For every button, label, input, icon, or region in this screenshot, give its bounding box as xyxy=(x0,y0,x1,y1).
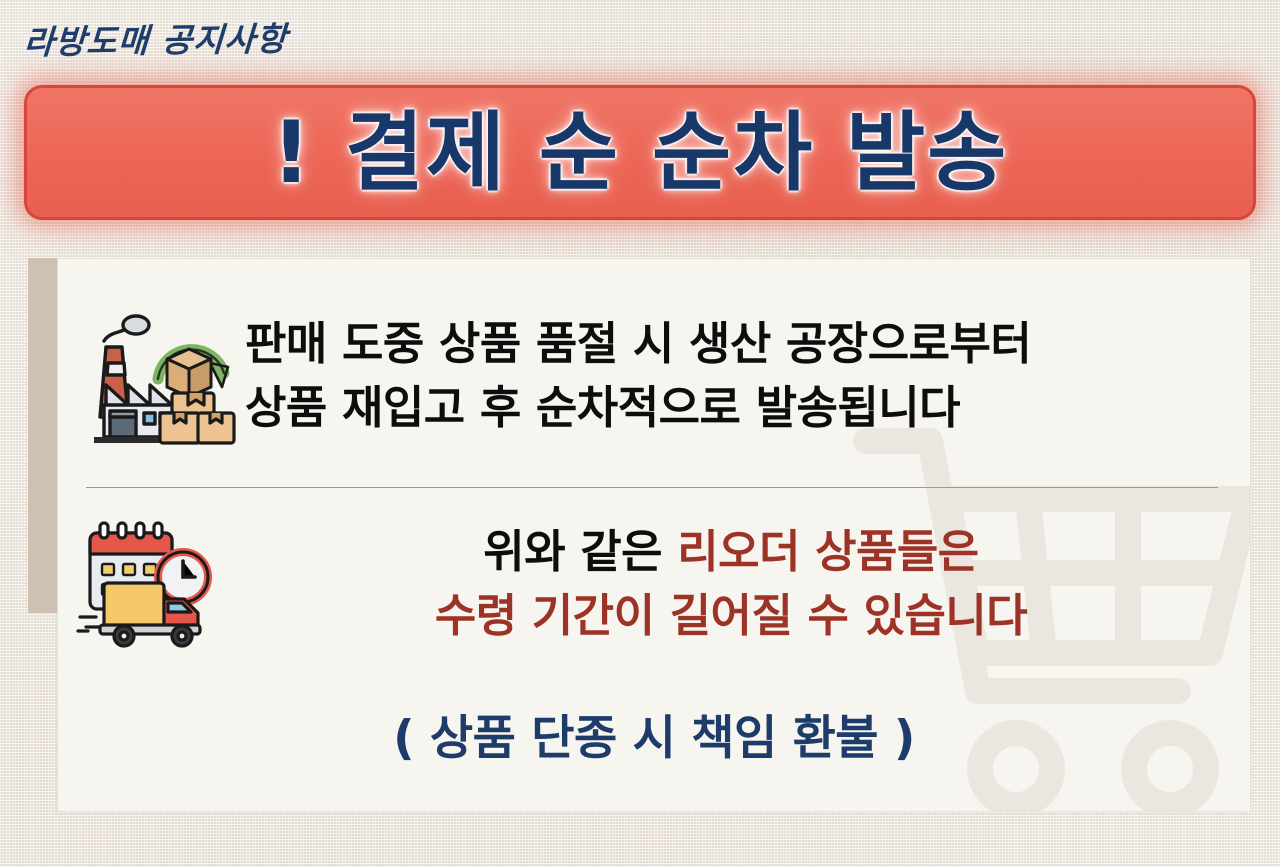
headline-banner-text: ! 결제 순 순차 발송 xyxy=(272,110,1009,196)
notice-section-1-text: 판매 도중 상품 품절 시 생산 공장으로부터 상품 재입고 후 순차적으로 발… xyxy=(245,312,1230,440)
calendar-clock-truck-icon-cell xyxy=(72,519,230,649)
notice-section-2-text: 위와 같은 리오더 상품들은 수령 기간이 길어질 수 있습니다 xyxy=(230,520,1232,648)
factory-reorder-icon-cell xyxy=(80,301,245,451)
headline-banner: ! 결제 순 순차 발송 xyxy=(24,85,1256,220)
notice-section-2: 위와 같은 리오더 상품들은 수령 기간이 길어질 수 있습니다 xyxy=(72,504,1232,664)
notice-footnote: ( 상품 단종 시 책임 환불 ) xyxy=(58,699,1250,768)
notice-line-3: 위와 같은 리오더 상품들은 xyxy=(230,520,1232,584)
notice-line-4: 수령 기간이 길어질 수 있습니다 xyxy=(230,584,1232,648)
notice-section-1: 판매 도중 상품 품절 시 생산 공장으로부터 상품 재입고 후 순차적으로 발… xyxy=(80,283,1230,468)
factory-reorder-icon xyxy=(84,301,242,451)
section-divider xyxy=(86,487,1218,488)
notice-line-1: 판매 도중 상품 품절 시 생산 공장으로부터 xyxy=(245,312,1230,376)
page-kicker-title: 라방도매 공지사항 xyxy=(23,12,289,64)
notice-card: 판매 도중 상품 품절 시 생산 공장으로부터 상품 재입고 후 순차적으로 발… xyxy=(57,258,1251,812)
notice-line-3-prefix: 위와 같은 xyxy=(483,525,677,578)
notice-line-3-highlight: 리오더 상품들은 xyxy=(677,525,978,578)
notice-line-2: 상품 재입고 후 순차적으로 발송됩니다 xyxy=(245,376,1230,440)
calendar-clock-truck-icon xyxy=(76,519,226,649)
card-accent-bar xyxy=(28,258,58,613)
